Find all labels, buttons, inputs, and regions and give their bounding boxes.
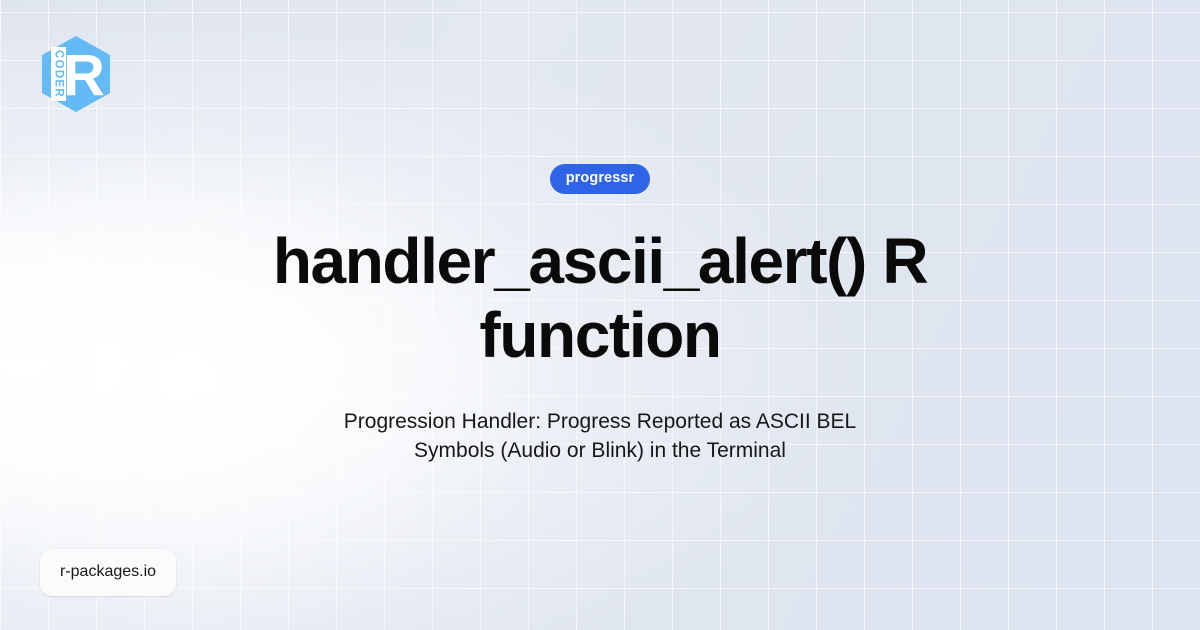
page-subtitle: Progression Handler: Progress Reported a… (320, 408, 880, 466)
page-title: handler_ascii_alert() R function (250, 224, 950, 372)
site-url-chip[interactable]: r-packages.io (40, 549, 176, 596)
card-content: progressr handler_ascii_alert() R functi… (0, 0, 1200, 630)
open-graph-card: CODER R progressr handler_ascii_alert() … (0, 0, 1200, 630)
package-name-badge[interactable]: progressr (550, 164, 651, 194)
